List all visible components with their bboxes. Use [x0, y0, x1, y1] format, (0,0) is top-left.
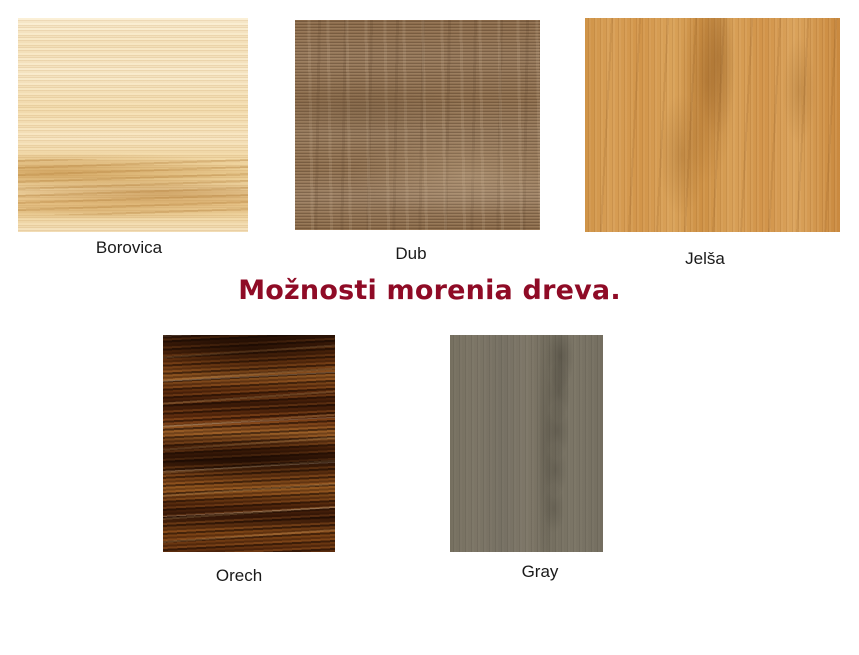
wood-stain-options-board: Borovica Dub Jelša Možnosti morenia drev… — [0, 0, 859, 655]
swatch-card-jelsa[interactable] — [585, 18, 840, 232]
wood-swatch-icon-gray[interactable] — [450, 335, 603, 552]
swatch-label-jelsa: Jelša — [685, 249, 725, 269]
swatch-label-gray: Gray — [522, 562, 559, 582]
grain-texture-streaks — [585, 18, 840, 232]
swatch-card-borovica[interactable] — [18, 18, 248, 232]
wood-swatch-icon-borovica[interactable] — [18, 18, 248, 232]
grain-texture-swirl — [18, 159, 248, 215]
swatch-label-borovica: Borovica — [96, 238, 162, 258]
swatch-card-orech[interactable] — [163, 335, 335, 552]
swatch-card-gray[interactable] — [450, 335, 603, 552]
swatch-card-dub[interactable] — [295, 20, 540, 230]
grain-texture-shading — [163, 335, 335, 552]
wood-swatch-icon-dub[interactable] — [295, 20, 540, 230]
swatch-label-orech: Orech — [216, 566, 262, 586]
wood-swatch-icon-orech[interactable] — [163, 335, 335, 552]
wood-swatch-icon-jelsa[interactable] — [585, 18, 840, 232]
page-title: Možnosti morenia dreva. — [0, 275, 859, 307]
grain-texture-cathedral — [295, 20, 540, 230]
grain-texture-cathedral — [450, 335, 603, 552]
swatch-label-dub: Dub — [395, 244, 426, 264]
